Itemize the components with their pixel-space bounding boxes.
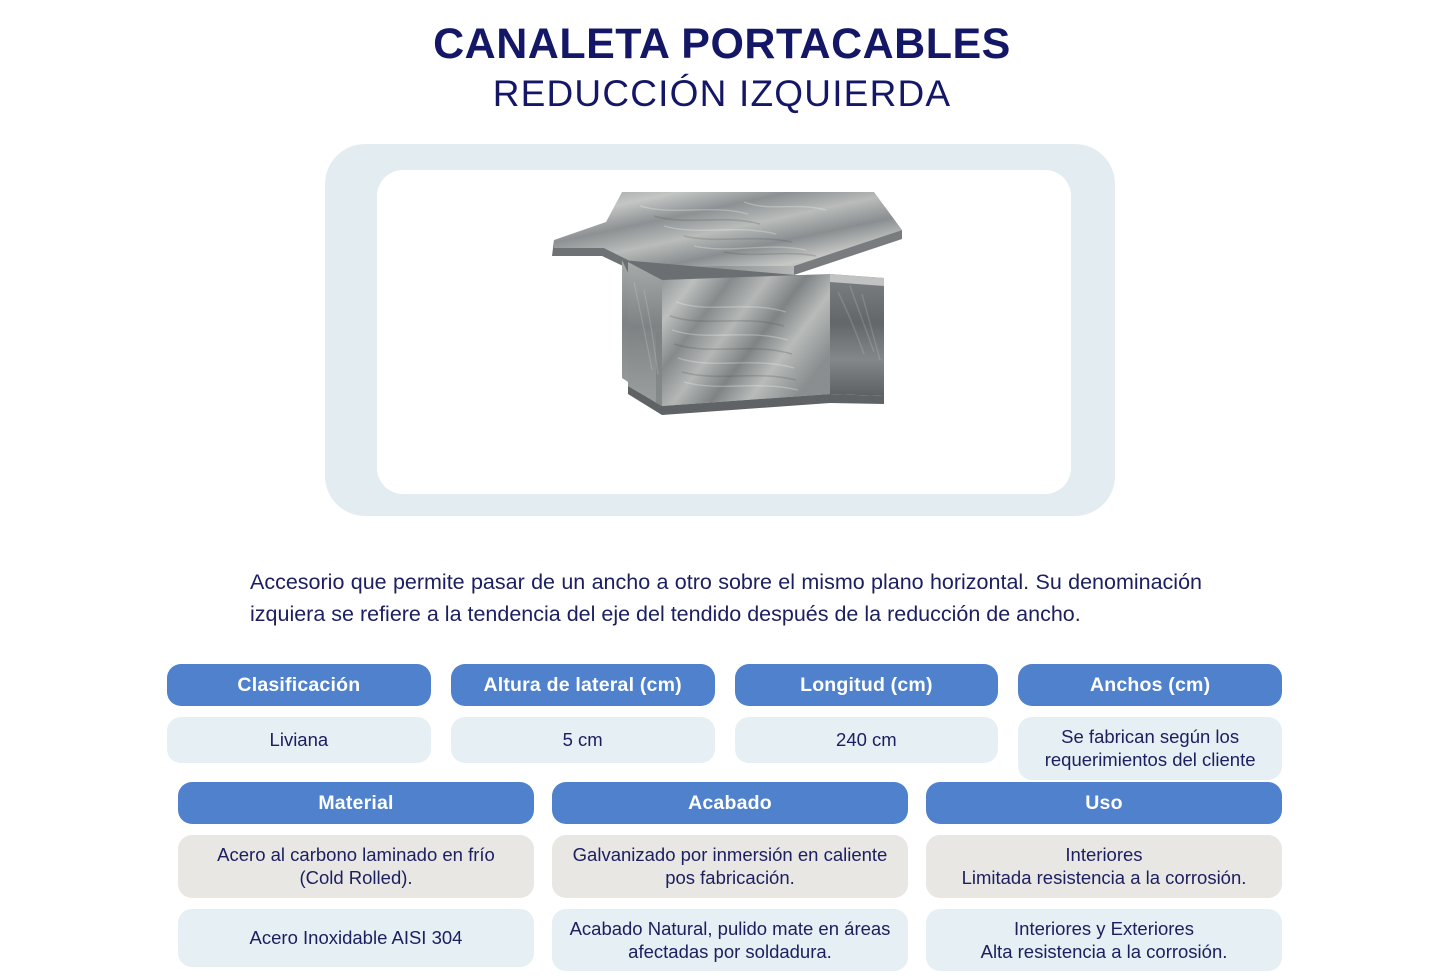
spec-header-altura-lateral: Altura de lateral (cm) xyxy=(451,664,715,706)
spec-cell-uso-1: Interiores Limitada resistencia a la cor… xyxy=(926,835,1282,898)
spec-cell-longitud-1: 240 cm xyxy=(735,717,999,763)
spec-header-material: Material xyxy=(178,782,534,824)
cell-line: Acero Inoxidable AISI 304 xyxy=(250,926,463,949)
spec-column-material: Material Acero al carbono laminado en fr… xyxy=(178,782,534,971)
spec-table-secondary: Material Acero al carbono laminado en fr… xyxy=(178,782,1282,971)
spec-cell-acabado-2: Acabado Natural, pulido mate en áreas af… xyxy=(552,909,908,972)
spec-cell-anchos-1: Se fabrican según los requerimientos del… xyxy=(1018,717,1282,780)
spec-table-primary: Clasificación Liviana Altura de lateral … xyxy=(167,664,1282,780)
product-image-frame xyxy=(325,144,1115,516)
cell-line: (Cold Rolled). xyxy=(217,866,495,889)
spec-column-uso: Uso Interiores Limitada resistencia a la… xyxy=(926,782,1282,971)
spec-header-uso: Uso xyxy=(926,782,1282,824)
spec-header-clasificacion: Clasificación xyxy=(167,664,431,706)
cell-line: 240 cm xyxy=(836,728,897,751)
spec-cell-altura-lateral-1: 5 cm xyxy=(451,717,715,763)
cell-line: Interiores y Exteriores xyxy=(981,917,1228,940)
cell-line: Liviana xyxy=(270,728,329,751)
cell-line: Se fabrican según los xyxy=(1045,725,1256,748)
product-image-inner-frame xyxy=(377,170,1071,494)
cell-line: Acabado Natural, pulido mate en áreas xyxy=(570,917,891,940)
spec-column-acabado: Acabado Galvanizado por inmersión en cal… xyxy=(552,782,908,971)
spec-header-longitud: Longitud (cm) xyxy=(735,664,999,706)
spec-column-longitud: Longitud (cm) 240 cm xyxy=(735,664,999,780)
spec-cell-uso-2: Interiores y Exteriores Alta resistencia… xyxy=(926,909,1282,972)
spec-cell-clasificacion-1: Liviana xyxy=(167,717,431,763)
cell-line: pos fabricación. xyxy=(573,866,888,889)
page-subtitle: REDUCCIÓN IZQUIERDA xyxy=(0,71,1444,117)
cell-line: 5 cm xyxy=(563,728,603,751)
spec-column-clasificacion: Clasificación Liviana xyxy=(167,664,431,780)
spec-column-altura-lateral: Altura de lateral (cm) 5 cm xyxy=(451,664,715,780)
product-description: Accesorio que permite pasar de un ancho … xyxy=(250,566,1202,632)
page-title: CANALETA PORTACABLES xyxy=(0,22,1444,67)
spec-cell-material-2: Acero Inoxidable AISI 304 xyxy=(178,909,534,967)
cell-line: afectadas por soldadura. xyxy=(570,940,891,963)
spec-column-anchos: Anchos (cm) Se fabrican según los requer… xyxy=(1018,664,1282,780)
cell-line: Limitada resistencia a la corrosión. xyxy=(962,866,1247,889)
title-block: CANALETA PORTACABLES REDUCCIÓN IZQUIERDA xyxy=(0,0,1444,117)
cell-line: Acero al carbono laminado en frío xyxy=(217,843,495,866)
spec-cell-acabado-1: Galvanizado por inmersión en caliente po… xyxy=(552,835,908,898)
cell-line: Alta resistencia a la corrosión. xyxy=(981,940,1228,963)
cell-line: Interiores xyxy=(962,843,1247,866)
cell-line: requerimientos del cliente xyxy=(1045,748,1256,771)
cell-line: Galvanizado por inmersión en caliente xyxy=(573,843,888,866)
spec-cell-material-1: Acero al carbono laminado en frío (Cold … xyxy=(178,835,534,898)
spec-header-anchos: Anchos (cm) xyxy=(1018,664,1282,706)
spec-header-acabado: Acabado xyxy=(552,782,908,824)
product-photo xyxy=(377,170,1071,494)
